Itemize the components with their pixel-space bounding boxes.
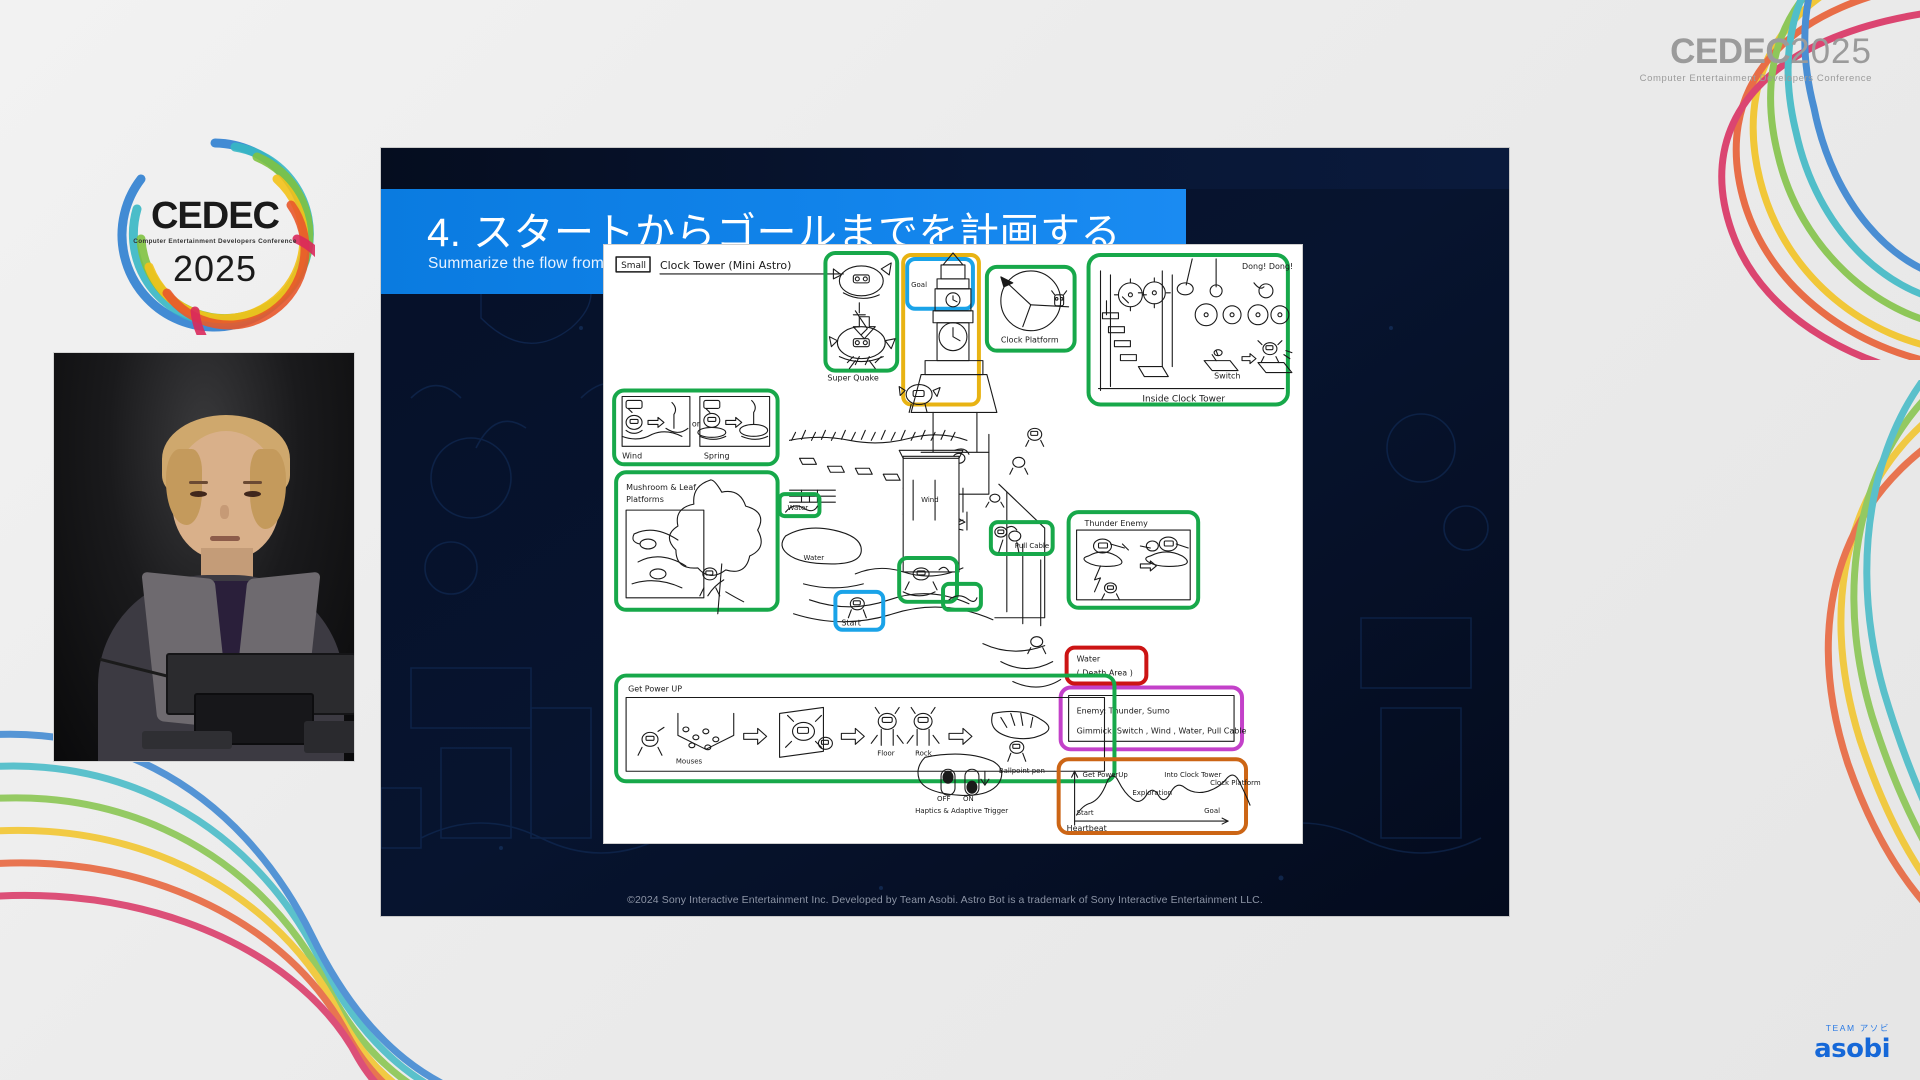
- group-get-power-up: [616, 676, 1114, 782]
- label-switch: Switch: [1214, 372, 1240, 381]
- label-inside-clock-tower: Inside Clock Tower: [1142, 394, 1225, 404]
- label-off: OFF: [937, 795, 951, 803]
- label-water-pool: Water: [804, 554, 825, 562]
- decorative-swoosh-right: [1610, 380, 1920, 940]
- label-wind: Wind: [622, 451, 642, 460]
- heartbeat-label-2: Exploration: [1132, 789, 1172, 797]
- label-water-small: Water: [788, 504, 809, 512]
- label-floor: Floor: [877, 749, 894, 757]
- cedec-wordmark-right: CEDEC: [1670, 32, 1790, 71]
- podium-keyboard: [142, 731, 232, 749]
- heartbeat-label-4: Clock Platform: [1210, 779, 1261, 787]
- label-mushroom-leaf: Mushroom & Leaf: [626, 483, 696, 492]
- cedec-logo-right: CEDEC2025 Computer Entertainment Develop…: [1640, 34, 1872, 84]
- screen: CEDEC Computer Entertainment Developers …: [0, 0, 1920, 1080]
- presenter-brow-right: [243, 481, 262, 484]
- label-clock-platform: Clock Platform: [1001, 336, 1059, 345]
- label-pull-cable: Pull Cable: [1015, 542, 1049, 550]
- heartbeat-label-5: Goal: [1204, 807, 1220, 815]
- team-asobi-team-label: TEAM アソビ: [1814, 1022, 1890, 1034]
- cedec-tagline: Computer Entertainment Developers Confer…: [115, 238, 315, 245]
- note-water-death-area: [1067, 648, 1147, 684]
- label-spring: Spring: [704, 451, 730, 460]
- note-enemy-gimmick: [1061, 688, 1242, 750]
- heartbeat-label-0: Start: [1077, 809, 1094, 817]
- podium-device: [304, 721, 355, 753]
- label-get-power-up: Get Power UP: [628, 685, 682, 694]
- presenter-brow-left: [189, 481, 208, 484]
- label-wind-area: Wind: [921, 496, 939, 504]
- group-mushroom-leaf: [616, 472, 777, 610]
- label-or: or: [692, 419, 701, 428]
- slide-copyright: ©2024 Sony Interactive Entertainment Inc…: [381, 894, 1509, 906]
- heartbeat-title: Heartbeat: [1067, 824, 1107, 833]
- whiteboard-diagram: .ink { stroke:#1a1a1a; stroke-width:1.5;…: [603, 244, 1303, 844]
- label-on: ON: [963, 795, 974, 803]
- presentation-slide: 4. スタートからゴールまでを計画する Summarize the flow f…: [381, 148, 1509, 916]
- cedec-logo-left: CEDEC Computer Entertainment Developers …: [115, 135, 315, 335]
- cedec-year-right: 2025: [1790, 32, 1872, 71]
- presenter-nose: [220, 505, 229, 519]
- team-asobi-logo: TEAM アソビ asobi: [1814, 1022, 1890, 1064]
- label-super-quake: Super Quake: [827, 374, 878, 383]
- label-start: Start: [841, 619, 860, 628]
- label-mushroom-leaf-2: Platforms: [626, 495, 664, 504]
- label-dong: Dong! Dong!: [1242, 262, 1293, 271]
- slide-top-strip: [381, 148, 1509, 189]
- label-ballpoint-pen: Ballpoint pen: [999, 767, 1045, 775]
- cedec-year: 2025: [115, 249, 315, 289]
- presenter-eye-left: [190, 491, 207, 497]
- board-title: Clock Tower (Mini Astro): [660, 259, 791, 272]
- heartbeat-label-3: Into Clock Tower: [1164, 771, 1221, 779]
- label-goal: Goal: [911, 281, 927, 289]
- team-asobi-name: asobi: [1814, 1034, 1890, 1064]
- note-enemy-line: Enemy: Thunder, Sumo: [1077, 706, 1170, 715]
- cedec-tagline-right: Computer Entertainment Developers Confer…: [1640, 73, 1872, 84]
- whiteboard-svg: .ink { stroke:#1a1a1a; stroke-width:1.5;…: [604, 245, 1302, 843]
- label-thunder-enemy: Thunder Enemy: [1084, 519, 1149, 528]
- presenter-video: [53, 352, 355, 762]
- presenter-eye-right: [244, 491, 261, 497]
- note-water-line1: Water: [1077, 655, 1101, 664]
- note-gimmick-line: Gimmick: Switch , Wind , Water, Pull Cab…: [1077, 726, 1247, 735]
- label-mouses: Mouses: [676, 757, 703, 765]
- cedec-wordmark: CEDEC: [115, 197, 315, 235]
- heartbeat-label-1: Get PowerUp: [1083, 771, 1129, 779]
- board-tag: Small: [621, 261, 646, 271]
- label-haptics: Haptics & Adaptive Trigger: [915, 807, 1008, 815]
- presenter-mouth: [210, 536, 240, 541]
